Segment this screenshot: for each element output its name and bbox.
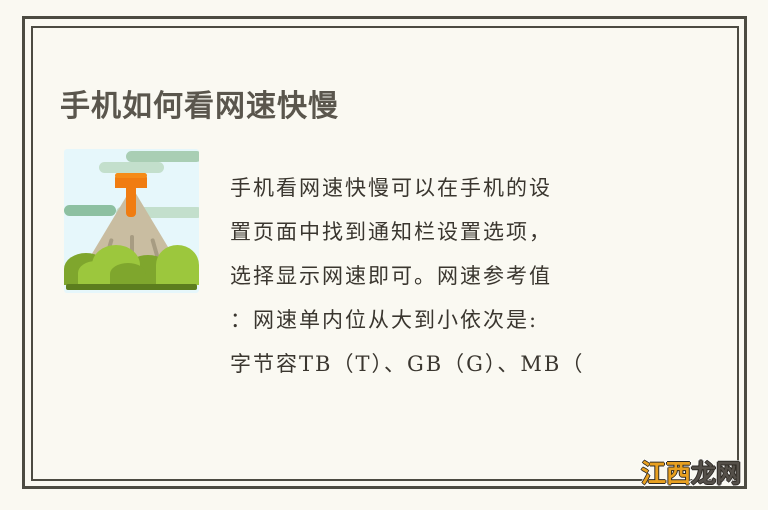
lava-flow-icon <box>126 185 136 217</box>
ground-line <box>66 284 197 290</box>
watermark-char: 江 <box>641 459 666 488</box>
crater-lip-icon <box>115 173 147 178</box>
article-body: 手机看网速快慢可以在手机的设 置页面中找到通知栏设置选项， 选择显示网速即可。网… <box>230 166 650 386</box>
volcano-illustration <box>60 145 208 303</box>
page-title: 手机如何看网速快慢 <box>60 90 339 124</box>
body-line: 字节容TB（T）、GB（G）、MB（ <box>230 342 650 386</box>
cloud-icon <box>126 151 199 162</box>
site-watermark: 江西龙网 <box>641 459 741 489</box>
illustration-sky <box>64 149 199 293</box>
watermark-char: 西 <box>666 459 691 488</box>
body-line: 选择显示网速即可。网速参考值 <box>230 254 650 298</box>
article-page: 手机如何看网速快慢 <box>0 0 768 510</box>
body-line: ：网速单内位从大到小依次是: <box>230 298 650 342</box>
bush-icon <box>110 263 146 285</box>
cloud-icon <box>99 162 164 173</box>
watermark-char: 龙 <box>691 459 716 488</box>
body-line: 置页面中找到通知栏设置选项， <box>230 210 650 254</box>
body-line: 手机看网速快慢可以在手机的设 <box>230 166 650 210</box>
article-content-area: 手机如何看网速快慢 <box>31 26 739 481</box>
watermark-char: 网 <box>716 459 741 488</box>
bush-icon <box>156 245 199 285</box>
